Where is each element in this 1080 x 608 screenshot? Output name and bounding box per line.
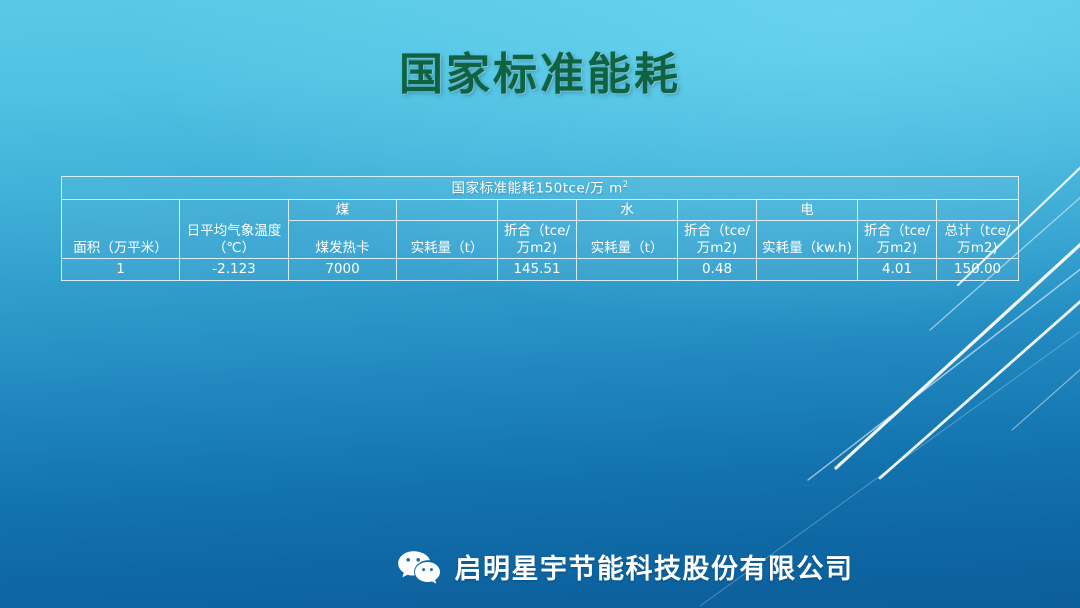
col-group-water: 水 bbox=[577, 199, 678, 220]
col-group-electricity: 电 bbox=[757, 199, 858, 220]
table-caption-row: 国家标准能耗150tce/万 m2 bbox=[62, 177, 1019, 200]
col-header-coal-actual: 实耗量（t） bbox=[397, 221, 498, 259]
col-header-coal-heat: 煤发热卡 bbox=[289, 221, 397, 259]
table-caption-unit: m bbox=[609, 181, 623, 197]
table-caption-unit-sup: 2 bbox=[623, 179, 629, 189]
col-header-water-converted: 折合（tce/万m2) bbox=[678, 221, 757, 259]
col-group-water-spacer-converted bbox=[678, 199, 757, 220]
col-header-total: 总计（tce/万m2) bbox=[937, 221, 1019, 259]
cell-water-actual bbox=[577, 259, 678, 280]
cell-temperature: -2.123 bbox=[180, 259, 289, 280]
cell-area: 1 bbox=[62, 259, 180, 280]
wechat-icon bbox=[397, 550, 441, 584]
footer-brand: 启明星宇节能科技股份有限公司 bbox=[0, 547, 1080, 586]
cell-coal-converted: 145.51 bbox=[498, 259, 577, 280]
table-row: 1 -2.123 7000 145.51 0.48 4.01 150.00 bbox=[62, 259, 1019, 280]
col-group-coal: 煤 bbox=[289, 199, 397, 220]
col-group-coal-spacer-actual bbox=[397, 199, 498, 220]
col-header-water-actual: 实耗量（t） bbox=[577, 221, 678, 259]
col-header-area: 面积（万平米） bbox=[62, 199, 180, 258]
cell-elec-converted: 4.01 bbox=[858, 259, 937, 280]
slide-canvas: 国家标准能耗 国家标准能耗150tce/万 m2 面积（万平米） 日平均气象温度… bbox=[0, 0, 1080, 608]
table-caption-main: 国家标准能耗150tce/万 bbox=[451, 181, 609, 197]
cell-water-converted: 0.48 bbox=[678, 259, 757, 280]
col-group-total-spacer bbox=[937, 199, 1019, 220]
table-group-header-row: 面积（万平米） 日平均气象温度（℃） 煤 水 电 bbox=[62, 199, 1019, 220]
col-group-elec-spacer-converted bbox=[858, 199, 937, 220]
table-caption: 国家标准能耗150tce/万 m2 bbox=[62, 177, 1019, 200]
page-title: 国家标准能耗 bbox=[0, 38, 1080, 102]
col-header-elec-converted: 折合（tce/万m2) bbox=[858, 221, 937, 259]
cell-total: 150.00 bbox=[937, 259, 1019, 280]
cell-elec-actual bbox=[757, 259, 858, 280]
col-group-coal-spacer-converted bbox=[498, 199, 577, 220]
cell-coal-actual bbox=[397, 259, 498, 280]
company-name: 启明星宇节能科技股份有限公司 bbox=[455, 547, 854, 586]
energy-standard-table: 国家标准能耗150tce/万 m2 面积（万平米） 日平均气象温度（℃） 煤 水… bbox=[61, 176, 1019, 281]
col-header-elec-actual: 实耗量（kw.h) bbox=[757, 221, 858, 259]
cell-coal-heat: 7000 bbox=[289, 259, 397, 280]
col-header-temperature: 日平均气象温度（℃） bbox=[180, 199, 289, 258]
col-header-coal-converted: 折合（tce/万m2) bbox=[498, 221, 577, 259]
